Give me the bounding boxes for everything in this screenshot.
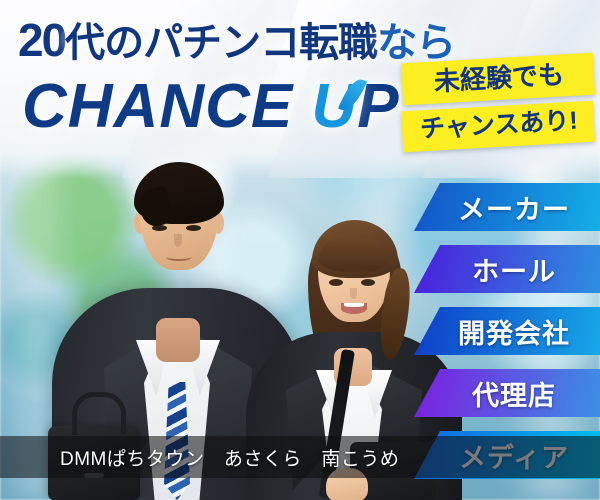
- category-button-developer[interactable]: 開発会社: [414, 307, 600, 355]
- man-mouth: [166, 253, 192, 261]
- status-badge: 未経験でも チャンスあり!: [402, 58, 594, 147]
- category-label-maker: メーカー: [444, 188, 570, 227]
- headline-middle: 代のパチンコ転職: [65, 21, 377, 65]
- category-label-agency: 代理店: [458, 374, 556, 413]
- man-nose: [174, 234, 182, 247]
- chance-up-logo: CHANCE UP: [22, 76, 400, 138]
- badge-line-1: 未経験でも: [401, 53, 595, 106]
- category-button-hall[interactable]: ホール: [414, 245, 600, 293]
- credit-band: DMMぱちタウン あさくら 南こうめ: [0, 436, 600, 478]
- man-eye-right: [186, 225, 201, 231]
- woman-mouth: [341, 303, 367, 314]
- man-hair: [134, 162, 224, 224]
- category-button-agency[interactable]: 代理店: [414, 369, 600, 417]
- category-button-maker[interactable]: メーカー: [414, 183, 600, 231]
- woman-eye-right: [361, 279, 375, 286]
- woman-nose: [350, 288, 357, 299]
- woman-bangs: [318, 238, 390, 272]
- category-label-hall: ホール: [458, 250, 556, 289]
- page-title: 20代のパチンコ転職なら: [18, 17, 455, 63]
- logo-word-chance: CHANCE: [22, 72, 293, 141]
- man-neck: [156, 318, 200, 362]
- credit-text: DMMぱちタウン あさくら 南こうめ: [0, 444, 399, 471]
- category-label-developer: 開発会社: [444, 312, 570, 351]
- woman-eye-left: [329, 279, 343, 286]
- badge-line-2: チャンスあり!: [401, 101, 595, 153]
- advertisement-banner[interactable]: 20代のパチンコ転職なら CHANCE UP 未経験でも チャンスあり! メーカ…: [0, 0, 600, 500]
- logo-letter-u: U: [311, 76, 357, 138]
- headline-number: 20: [18, 14, 65, 66]
